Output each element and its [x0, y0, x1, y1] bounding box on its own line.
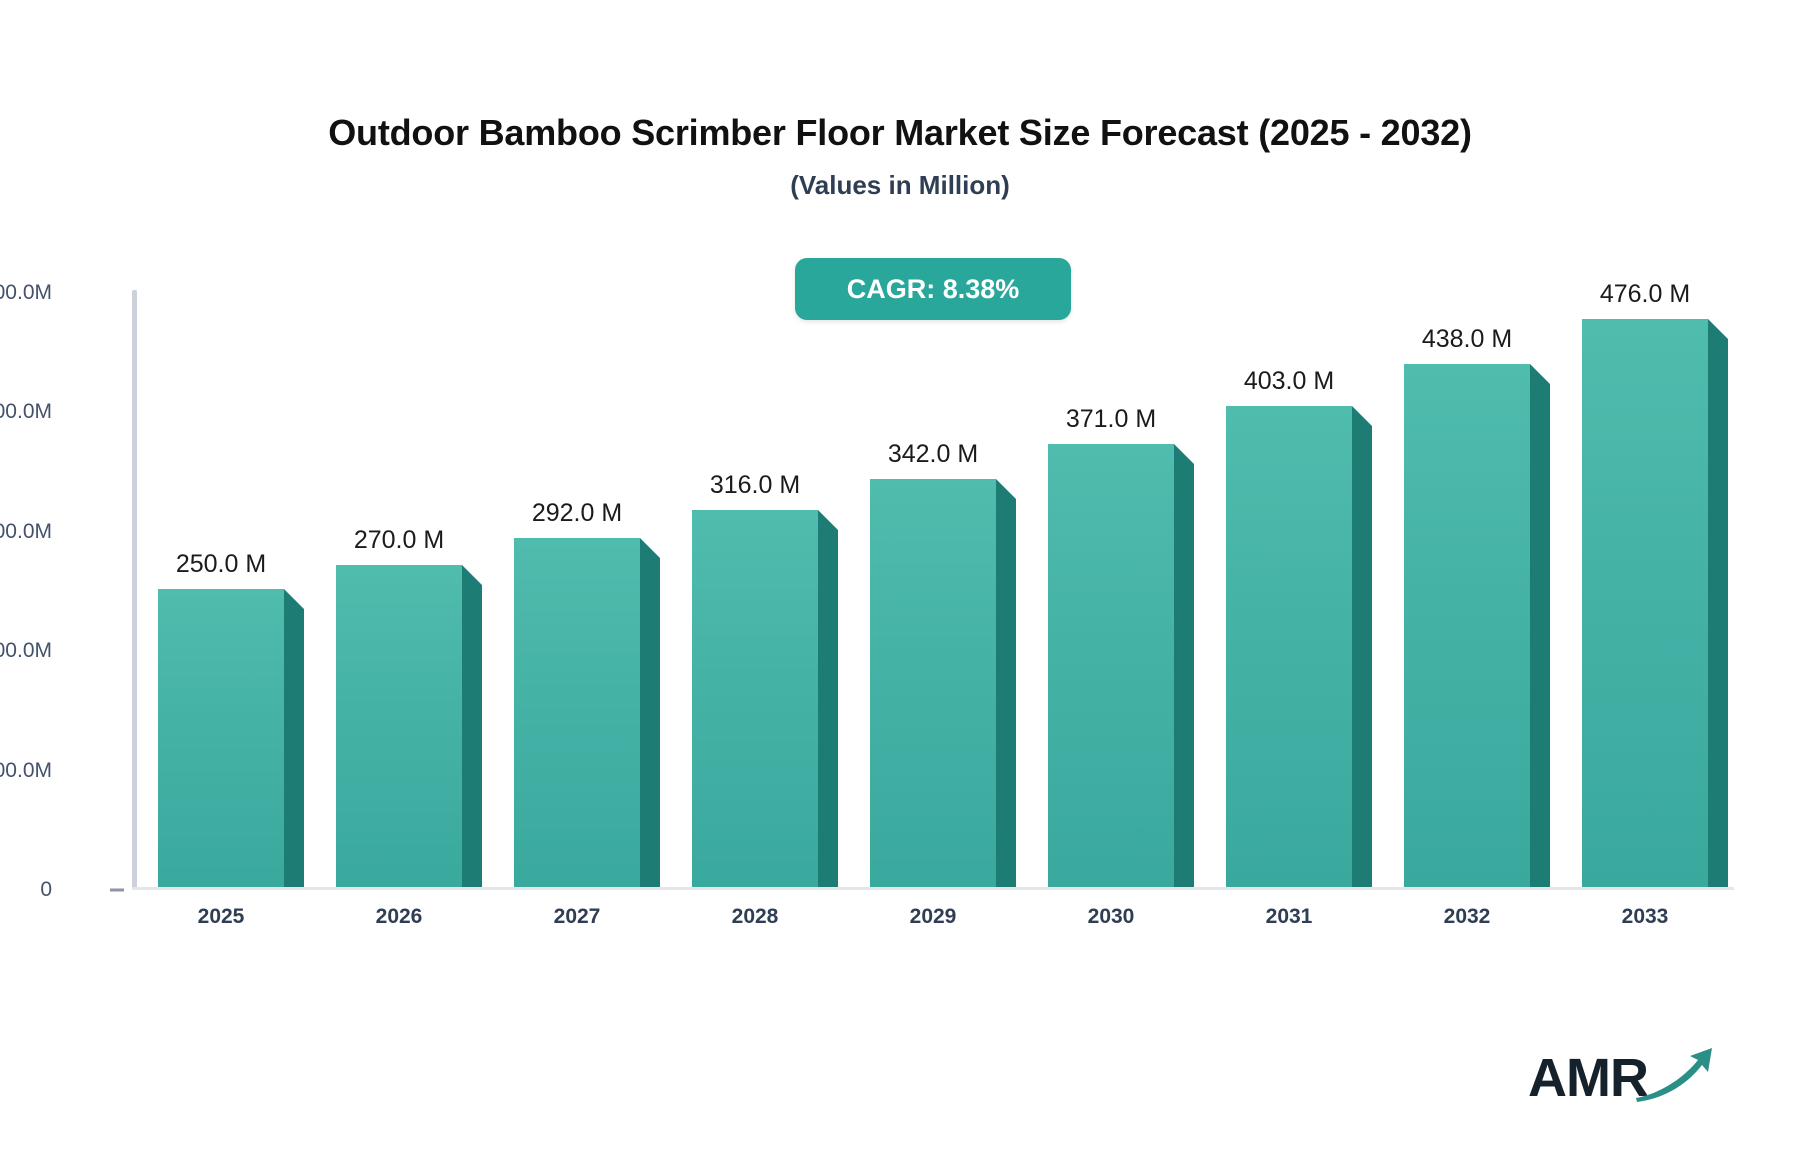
y-axis-label: 200.0M	[0, 639, 52, 663]
bar-value-label: 316.0 M	[710, 471, 800, 500]
bar-side-3d	[1530, 384, 1550, 887]
bar-item[interactable]: 250.0 M2025	[158, 589, 284, 888]
bar-side-3d	[996, 499, 1016, 887]
bar-item[interactable]: 476.0 M2033	[1582, 319, 1708, 887]
x-axis-line	[132, 887, 1734, 890]
x-axis-label: 2029	[910, 905, 957, 929]
amr-logo: AMR	[1528, 1038, 1718, 1118]
bar-face	[336, 565, 462, 887]
bar-face	[870, 479, 996, 887]
bar-value-label: 403.0 M	[1244, 367, 1334, 396]
plot-area: 0100.0M200.0M300.0M400.0M500.0M 250.0 M2…	[132, 290, 1734, 890]
bar-item[interactable]: 270.0 M2026	[336, 565, 462, 887]
y-axis-label: 400.0M	[0, 400, 52, 424]
y-axis-tick-mark	[110, 889, 124, 892]
bar-top-3d	[1708, 319, 1728, 339]
x-axis-label: 2031	[1266, 905, 1313, 929]
bar-top-3d	[462, 565, 482, 585]
growth-arrow-icon	[1632, 1044, 1716, 1111]
bar-top-3d	[1530, 364, 1550, 384]
bar-top-3d	[640, 538, 660, 558]
bar-item[interactable]: 316.0 M2028	[692, 510, 818, 887]
bar-item[interactable]: 371.0 M2030	[1048, 444, 1174, 887]
bar-top-3d	[1174, 444, 1194, 464]
bar-top-3d	[284, 589, 304, 609]
page-title: Outdoor Bamboo Scrimber Floor Market Siz…	[0, 112, 1800, 154]
x-axis-label: 2032	[1444, 905, 1491, 929]
bar-side-3d	[284, 609, 304, 888]
x-axis-label: 2026	[376, 905, 423, 929]
bar-value-label: 250.0 M	[176, 550, 266, 579]
bar-series: 250.0 M2025270.0 M2026292.0 M2027316.0 M…	[132, 290, 1734, 887]
bar-side-3d	[1174, 464, 1194, 887]
bar-face	[158, 589, 284, 888]
bar-face	[1404, 364, 1530, 887]
bar-item[interactable]: 292.0 M2027	[514, 538, 640, 887]
page-subtitle: (Values in Million)	[0, 170, 1800, 201]
bar-side-3d	[462, 585, 482, 887]
bar-top-3d	[818, 510, 838, 530]
logo-text: AMR	[1528, 1051, 1648, 1105]
x-axis-label: 2030	[1088, 905, 1135, 929]
bar-top-3d	[1352, 406, 1372, 426]
bar-face	[514, 538, 640, 887]
chart-page: Outdoor Bamboo Scrimber Floor Market Siz…	[0, 0, 1800, 1156]
bar-side-3d	[818, 530, 838, 887]
bar-value-label: 342.0 M	[888, 440, 978, 469]
bar-item[interactable]: 438.0 M2032	[1404, 364, 1530, 887]
bar-side-3d	[1708, 339, 1728, 887]
bar-value-label: 371.0 M	[1066, 405, 1156, 434]
bar-side-3d	[1352, 426, 1372, 887]
y-axis-label: 0	[0, 878, 52, 902]
bar-face	[1226, 406, 1352, 887]
y-axis-label: 500.0M	[0, 281, 52, 305]
x-axis-label: 2028	[732, 905, 779, 929]
y-axis-label: 100.0M	[0, 759, 52, 783]
bar-item[interactable]: 403.0 M2031	[1226, 406, 1352, 887]
bar-value-label: 292.0 M	[532, 499, 622, 528]
y-axis-label: 300.0M	[0, 520, 52, 544]
bar-face	[1048, 444, 1174, 887]
bar-item[interactable]: 342.0 M2029	[870, 479, 996, 887]
bar-value-label: 476.0 M	[1600, 280, 1690, 309]
bar-top-3d	[996, 479, 1016, 499]
cagr-badge: CAGR: 8.38%	[795, 258, 1071, 320]
x-axis-label: 2033	[1622, 905, 1669, 929]
bar-face	[692, 510, 818, 887]
bar-value-label: 270.0 M	[354, 526, 444, 555]
bar-value-label: 438.0 M	[1422, 325, 1512, 354]
bar-side-3d	[640, 558, 660, 887]
x-axis-label: 2027	[554, 905, 601, 929]
x-axis-label: 2025	[198, 905, 245, 929]
bar-face	[1582, 319, 1708, 887]
